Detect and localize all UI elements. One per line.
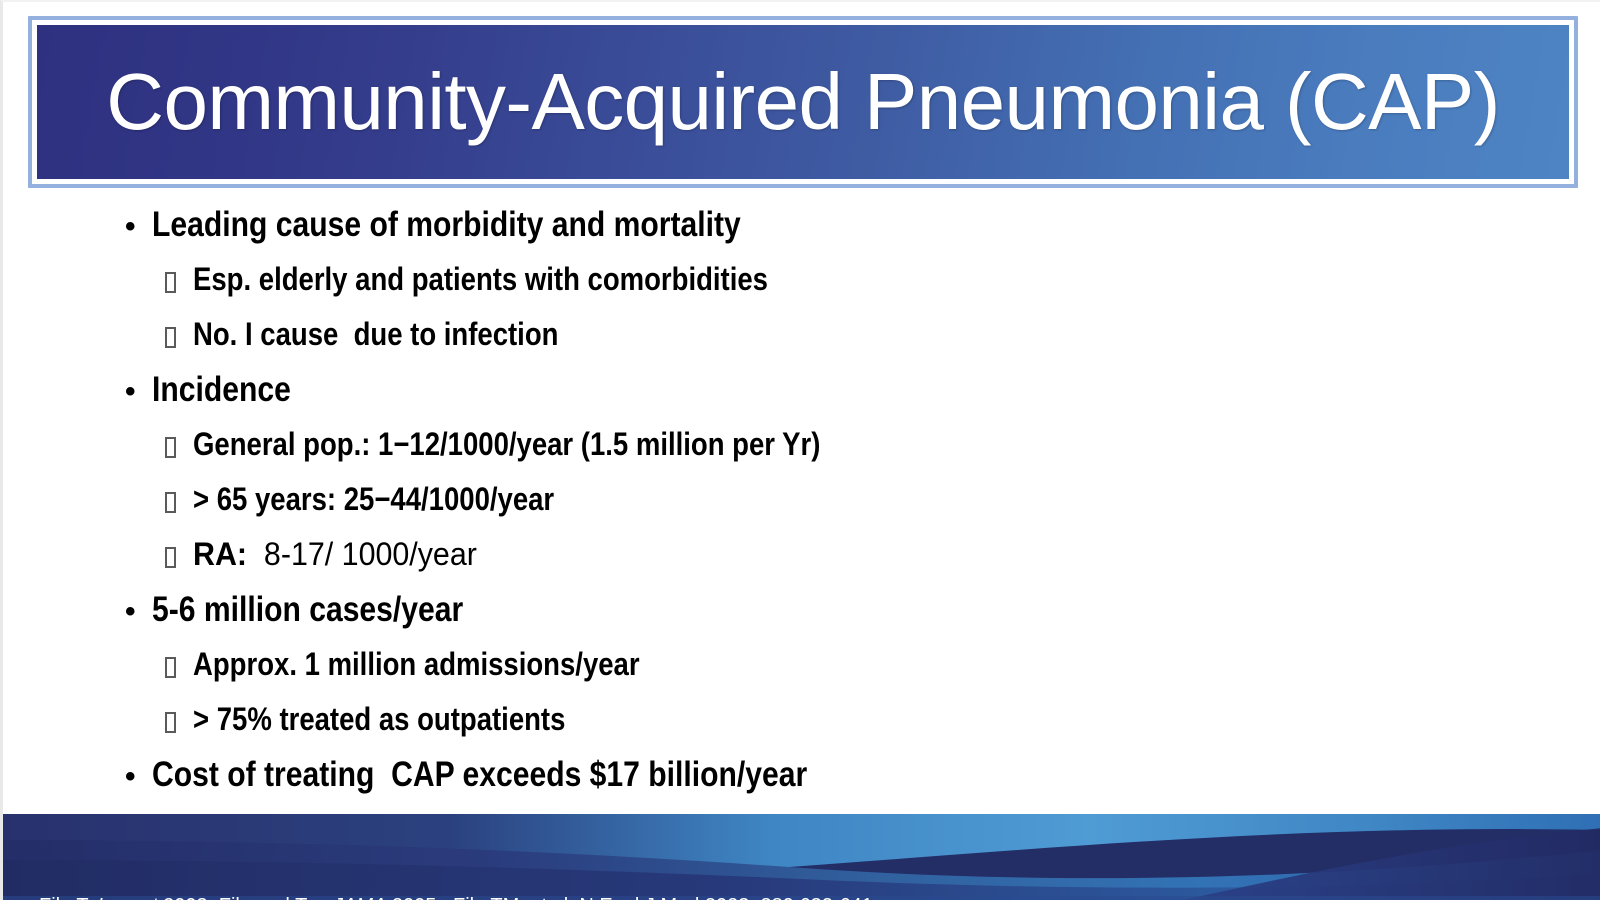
list-item-label: No. I cause due to infection (193, 308, 558, 361)
list-item-label: General pop.: 1−12/1000/year (1.5 millio… (193, 418, 820, 471)
list-item-label: 5-6 million cases/year (152, 583, 463, 636)
slide: Community-Acquired Pneumonia (CAP) • Lea… (0, 0, 1600, 900)
list-item-label: > 75% treated as outpatients (193, 693, 565, 746)
list-item-label: Cost of treating CAP exceeds $17 billion… (152, 748, 807, 801)
list-item: RA: 8-17/ 1000/year (3, 528, 1600, 583)
list-item: Esp. elderly and patients with comorbidi… (3, 253, 1600, 308)
citation-footer: File T. Lancet 2003; File and Tan JAMA 2… (3, 814, 1600, 900)
disc-bullet-icon: • (125, 200, 152, 253)
list-item: • Leading cause of morbidity and mortali… (3, 198, 1600, 253)
disc-bullet-icon: • (125, 585, 152, 638)
list-item-label: RA: 8-17/ 1000/year (193, 528, 477, 581)
tofu-box-bullet-icon (165, 475, 193, 528)
list-item: Approx. 1 million admissions/year (3, 638, 1600, 693)
citation-1-journal-lancet: Lancet (98, 895, 158, 900)
list-item: > 65 years: 25−44/1000/year (3, 473, 1600, 528)
list-item-label: Esp. elderly and patients with comorbidi… (193, 253, 768, 306)
tofu-box-bullet-icon (165, 310, 193, 363)
list-item: General pop.: 1−12/1000/year (1.5 millio… (3, 418, 1600, 473)
list-item: • Cost of treating CAP exceeds $17 billi… (3, 748, 1600, 803)
list-item-label: Approx. 1 million admissions/year (193, 638, 640, 691)
tofu-box-bullet-icon (165, 420, 193, 473)
disc-bullet-icon: • (125, 365, 152, 418)
citation-1-part2: 2003; File and Tan (158, 895, 333, 900)
citation-text: File T. Lancet 2003; File and Tan JAMA 2… (39, 826, 911, 900)
page-title: Community-Acquired Pneumonia (CAP) (106, 62, 1499, 142)
list-item-label: Incidence (152, 363, 291, 416)
list-item-label: Leading cause of morbidity and mortality (152, 198, 741, 251)
disc-bullet-icon: • (125, 750, 152, 803)
list-item: • 5-6 million cases/year (3, 583, 1600, 638)
title-frame: Community-Acquired Pneumonia (CAP) (28, 16, 1578, 188)
ra-value: 8-17/ 1000/year (247, 536, 477, 572)
citation-line-1: File T. Lancet 2003; File and Tan JAMA 2… (39, 890, 911, 900)
title-banner: Community-Acquired Pneumonia (CAP) (37, 25, 1569, 179)
list-item: > 75% treated as outpatients (3, 693, 1600, 748)
list-item-label: > 65 years: 25−44/1000/year (193, 473, 554, 526)
tofu-box-bullet-icon (165, 695, 193, 748)
citation-1-part3: 2005; File TM, et al. N Engl J Med 2023;… (386, 895, 873, 900)
citation-1-journal-jama: JAMA (333, 895, 386, 900)
list-item: • Incidence (3, 363, 1600, 418)
tofu-box-bullet-icon (165, 640, 193, 693)
citation-1-part1: File T. (39, 895, 98, 900)
list-item: No. I cause due to infection (3, 308, 1600, 363)
ra-label: RA: (193, 536, 247, 572)
bullet-list: • Leading cause of morbidity and mortali… (3, 198, 1600, 803)
tofu-box-bullet-icon (165, 530, 193, 583)
tofu-box-bullet-icon (165, 255, 193, 308)
